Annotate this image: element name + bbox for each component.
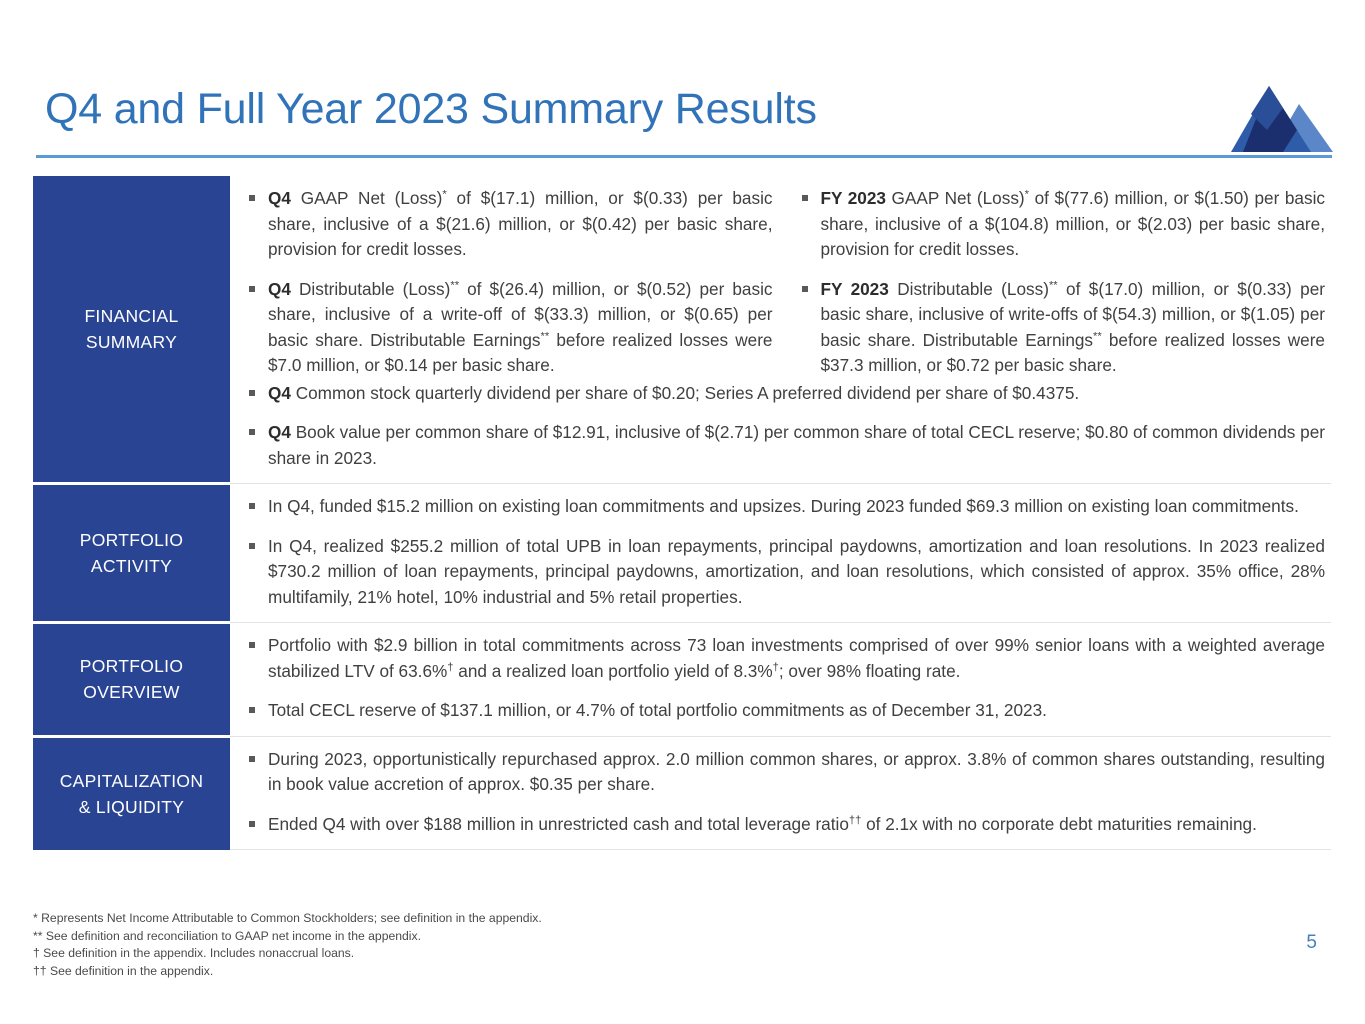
list-item: Q4 Distributable (Loss)** of $(26.4) mil… (242, 277, 773, 379)
table-row-portfolio-overview: PORTFOLIO OVERVIEW Portfolio with $2.9 b… (33, 623, 1331, 737)
list-item: FY 2023 GAAP Net (Loss)* of $(77.6) mill… (795, 186, 1326, 263)
list-item: Q4 Book value per common share of $12.91… (242, 420, 1325, 471)
financial-summary-body: Q4 GAAP Net (Loss)* of $(17.1) million, … (230, 176, 1331, 484)
footnotes: * Represents Net Income Attributable to … (33, 910, 933, 980)
table-row-capitalization-liquidity: CAPITALIZATION & LIQUIDITY During 2023, … (33, 736, 1331, 850)
category-label-line-1: FINANCIAL (33, 303, 230, 329)
category-label-line-2: SUMMARY (33, 329, 230, 355)
list-item: FY 2023 Distributable (Loss)** of $(17.0… (795, 277, 1326, 379)
list-item: Q4 GAAP Net (Loss)* of $(17.1) million, … (242, 186, 773, 263)
list-item: Total CECL reserve of $137.1 million, or… (242, 698, 1325, 724)
footnote-asterisk: * Represents Net Income Attributable to … (33, 910, 933, 928)
mountain-logo (1227, 82, 1333, 152)
footnote-dagger: † See definition in the appendix. Includ… (33, 945, 933, 963)
financial-summary-columns: Q4 GAAP Net (Loss)* of $(17.1) million, … (242, 186, 1325, 381)
category-label-line-2: OVERVIEW (33, 679, 230, 705)
list-item: During 2023, opportunistically repurchas… (242, 747, 1325, 798)
bullet-list-capitalization: During 2023, opportunistically repurchas… (242, 747, 1325, 838)
bullet-list-portfolio-overview: Portfolio with $2.9 billion in total com… (242, 633, 1325, 724)
table-row-portfolio-activity: PORTFOLIO ACTIVITY In Q4, funded $15.2 m… (33, 484, 1331, 623)
list-item: Ended Q4 with over $188 million in unres… (242, 812, 1325, 838)
page-number: 5 (1306, 932, 1317, 954)
slide-header: Q4 and Full Year 2023 Summary Results (0, 0, 1365, 160)
bullet-list-left: Q4 GAAP Net (Loss)* of $(17.1) million, … (242, 186, 773, 379)
category-label-portfolio-overview: PORTFOLIO OVERVIEW (33, 623, 230, 737)
portfolio-overview-body: Portfolio with $2.9 billion in total com… (230, 623, 1331, 737)
financial-summary-left-column: Q4 GAAP Net (Loss)* of $(17.1) million, … (242, 186, 773, 381)
header-divider-rule (36, 155, 1332, 158)
bullet-list-portfolio-activity: In Q4, funded $15.2 million on existing … (242, 494, 1325, 610)
category-label-financial-summary: FINANCIAL SUMMARY (33, 176, 230, 484)
portfolio-activity-body: In Q4, funded $15.2 million on existing … (230, 484, 1331, 623)
footnote-double-asterisk: ** See definition and reconciliation to … (33, 928, 933, 946)
list-item: Portfolio with $2.9 billion in total com… (242, 633, 1325, 684)
category-label-line-1: CAPITALIZATION (33, 768, 230, 794)
category-label-line-2: & LIQUIDITY (33, 794, 230, 820)
list-item: In Q4, funded $15.2 million on existing … (242, 494, 1325, 520)
category-label-portfolio-activity: PORTFOLIO ACTIVITY (33, 484, 230, 623)
table-row-financial-summary: FINANCIAL SUMMARY Q4 GAAP Net (Loss)* of… (33, 176, 1331, 484)
footnote-double-dagger: †† See definition in the appendix. (33, 963, 933, 981)
category-label-line-1: PORTFOLIO (33, 527, 230, 553)
summary-results-table: FINANCIAL SUMMARY Q4 GAAP Net (Loss)* of… (33, 176, 1331, 850)
category-label-capitalization-liquidity: CAPITALIZATION & LIQUIDITY (33, 736, 230, 850)
category-label-line-1: PORTFOLIO (33, 653, 230, 679)
bullet-list-right: FY 2023 GAAP Net (Loss)* of $(77.6) mill… (795, 186, 1326, 379)
financial-summary-right-column: FY 2023 GAAP Net (Loss)* of $(77.6) mill… (795, 186, 1326, 381)
page-title: Q4 and Full Year 2023 Summary Results (45, 84, 817, 134)
bullet-list-financial-full: Q4 Common stock quarterly dividend per s… (242, 381, 1325, 472)
list-item: Q4 Common stock quarterly dividend per s… (242, 381, 1325, 407)
capitalization-liquidity-body: During 2023, opportunistically repurchas… (230, 736, 1331, 850)
category-label-line-2: ACTIVITY (33, 553, 230, 579)
list-item: In Q4, realized $255.2 million of total … (242, 534, 1325, 611)
